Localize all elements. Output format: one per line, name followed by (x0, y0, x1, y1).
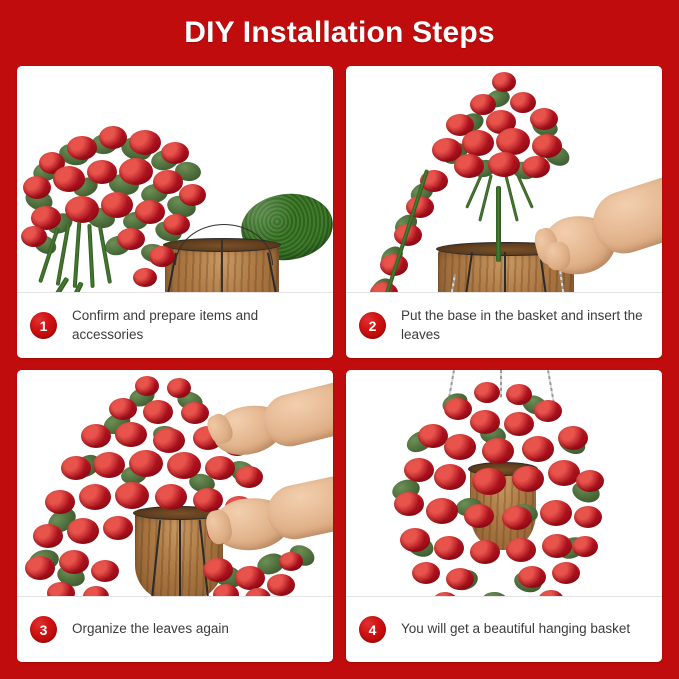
flower-cluster (370, 282, 398, 292)
flower-cluster (109, 398, 137, 420)
flower-cluster (61, 456, 91, 480)
scene-prepare-items (17, 66, 333, 292)
flower-cluster (512, 466, 544, 492)
flower-cluster (394, 492, 424, 516)
flower-cluster (444, 398, 472, 420)
step-caption-2: 2 Put the base in the basket and insert … (346, 292, 662, 358)
flower-cluster (572, 536, 598, 557)
flower-cluster (492, 72, 516, 92)
flower-cluster (153, 170, 183, 194)
flower-cluster (502, 506, 532, 530)
step-caption-text: Put the base in the basket and insert th… (401, 307, 652, 344)
flower-cluster (117, 228, 145, 250)
flower-stem (504, 174, 519, 221)
flower-cluster (115, 482, 149, 509)
flower-cluster (506, 538, 536, 562)
flower-cluster (434, 536, 464, 560)
flower-cluster (67, 518, 99, 544)
flower-cluster (522, 156, 550, 178)
flower-cluster (153, 428, 185, 453)
flower-stem (98, 226, 112, 284)
flower-cluster (446, 568, 474, 590)
step-image-3 (17, 370, 333, 596)
flower-cluster (576, 470, 604, 492)
flower-cluster (205, 456, 235, 480)
step-caption-3: 3 Organize the leaves again (17, 596, 333, 662)
flower-cluster (161, 142, 189, 164)
flower-cluster (235, 566, 265, 590)
flower-cluster (279, 552, 303, 571)
step-number-badge: 1 (30, 312, 57, 339)
flower-cluster (267, 574, 295, 596)
flower-cluster (530, 108, 558, 130)
basket-wire (504, 252, 506, 292)
poster-header: DIY Installation Steps (0, 0, 679, 66)
flower-cluster (133, 268, 157, 287)
flower-cluster (522, 436, 554, 462)
flower-cluster (163, 214, 190, 235)
flower-cluster (181, 402, 209, 424)
flower-cluster (53, 166, 85, 192)
flower-cluster (83, 586, 109, 596)
flower-cluster (404, 458, 434, 482)
flower-cluster (129, 450, 163, 477)
flower-cluster (454, 154, 484, 178)
step-image-2 (346, 66, 662, 292)
steps-grid: 1 Confirm and prepare items and accessor… (17, 66, 662, 662)
flower-cluster (472, 468, 506, 495)
finger (545, 241, 572, 271)
flower-cluster (149, 246, 175, 267)
flower-cluster (99, 126, 127, 149)
flower-cluster (143, 400, 173, 424)
leaf (481, 591, 509, 596)
flower-cluster (65, 196, 99, 223)
flower-cluster (155, 484, 187, 510)
flower-cluster (504, 412, 534, 436)
flower-cluster (59, 550, 89, 574)
flower-cluster (79, 484, 111, 510)
flower-cluster (444, 434, 476, 460)
flower-cluster (558, 426, 588, 450)
flower-cluster (540, 500, 572, 526)
flower-cluster (464, 504, 494, 528)
flower-cluster (574, 506, 602, 528)
step-image-4 (346, 370, 662, 596)
basket-wire (179, 520, 181, 596)
step-card-2: 2 Put the base in the basket and insert … (346, 66, 662, 358)
flower-cluster (434, 464, 466, 490)
step-number-badge: 4 (359, 616, 386, 643)
basket-chain (547, 370, 555, 404)
flower-cluster (87, 160, 117, 184)
step-card-1: 1 Confirm and prepare items and accessor… (17, 66, 333, 358)
flower-cluster (412, 562, 440, 584)
flower-stem (478, 174, 493, 221)
flower-cluster (552, 562, 580, 584)
flower-cluster (23, 176, 51, 199)
step-card-4: 4 You will get a beautiful hanging baske… (346, 370, 662, 662)
flower-cluster (33, 524, 63, 548)
flower-cluster (538, 590, 564, 596)
flower-cluster (115, 422, 147, 447)
flower-cluster (203, 558, 233, 582)
flower-cluster (426, 498, 458, 524)
flower-cluster (235, 466, 263, 488)
step-caption-1: 1 Confirm and prepare items and accessor… (17, 292, 333, 358)
flower-cluster (532, 134, 562, 158)
flower-cluster (470, 410, 500, 434)
step-number-badge: 2 (359, 312, 386, 339)
flower-stem (496, 186, 501, 262)
flower-cluster (103, 516, 133, 540)
flower-cluster (432, 592, 458, 596)
basket-chain (500, 370, 502, 398)
flower-cluster (400, 528, 430, 552)
flower-cluster (518, 566, 546, 588)
step-caption-text: Organize the leaves again (72, 620, 229, 639)
flower-cluster (542, 534, 572, 558)
step-caption-text: You will get a beautiful hanging basket (401, 620, 630, 639)
scene-finished-basket (346, 370, 662, 596)
flower-cluster (45, 490, 75, 514)
poster-root: DIY Installation Steps (0, 0, 679, 679)
flower-cluster (135, 200, 165, 224)
flower-cluster (101, 192, 133, 218)
step-caption-text: Confirm and prepare items and accessorie… (72, 307, 323, 344)
flower-cluster (119, 158, 153, 185)
scene-organize-leaves (17, 370, 333, 596)
flower-cluster (91, 560, 119, 582)
flower-cluster (25, 556, 55, 580)
flower-cluster (167, 378, 191, 398)
flower-cluster (482, 438, 514, 464)
flower-cluster (470, 540, 500, 564)
flower-cluster (93, 452, 125, 478)
step-caption-4: 4 You will get a beautiful hanging baske… (346, 596, 662, 662)
flower-cluster (462, 130, 494, 156)
flower-cluster (129, 130, 161, 155)
flower-cluster (488, 152, 520, 177)
flower-cluster (474, 382, 500, 403)
flower-cluster (21, 226, 47, 247)
flower-cluster (67, 136, 97, 160)
flower-cluster (167, 452, 201, 479)
flower-stem (87, 224, 94, 288)
flower-cluster (179, 184, 206, 206)
flower-cluster (135, 376, 159, 396)
flower-stem (73, 222, 82, 288)
flower-cluster (534, 400, 562, 422)
flower-cluster (81, 424, 111, 448)
page-title: DIY Installation Steps (184, 18, 495, 48)
step-card-3: 3 Organize the leaves again (17, 370, 333, 662)
flower-cluster (496, 128, 530, 155)
flower-cluster (193, 488, 223, 512)
step-image-1 (17, 66, 333, 292)
flower-cluster (510, 92, 536, 113)
scene-insert-leaves (346, 66, 662, 292)
step-number-badge: 3 (30, 616, 57, 643)
flower-cluster (506, 384, 532, 405)
